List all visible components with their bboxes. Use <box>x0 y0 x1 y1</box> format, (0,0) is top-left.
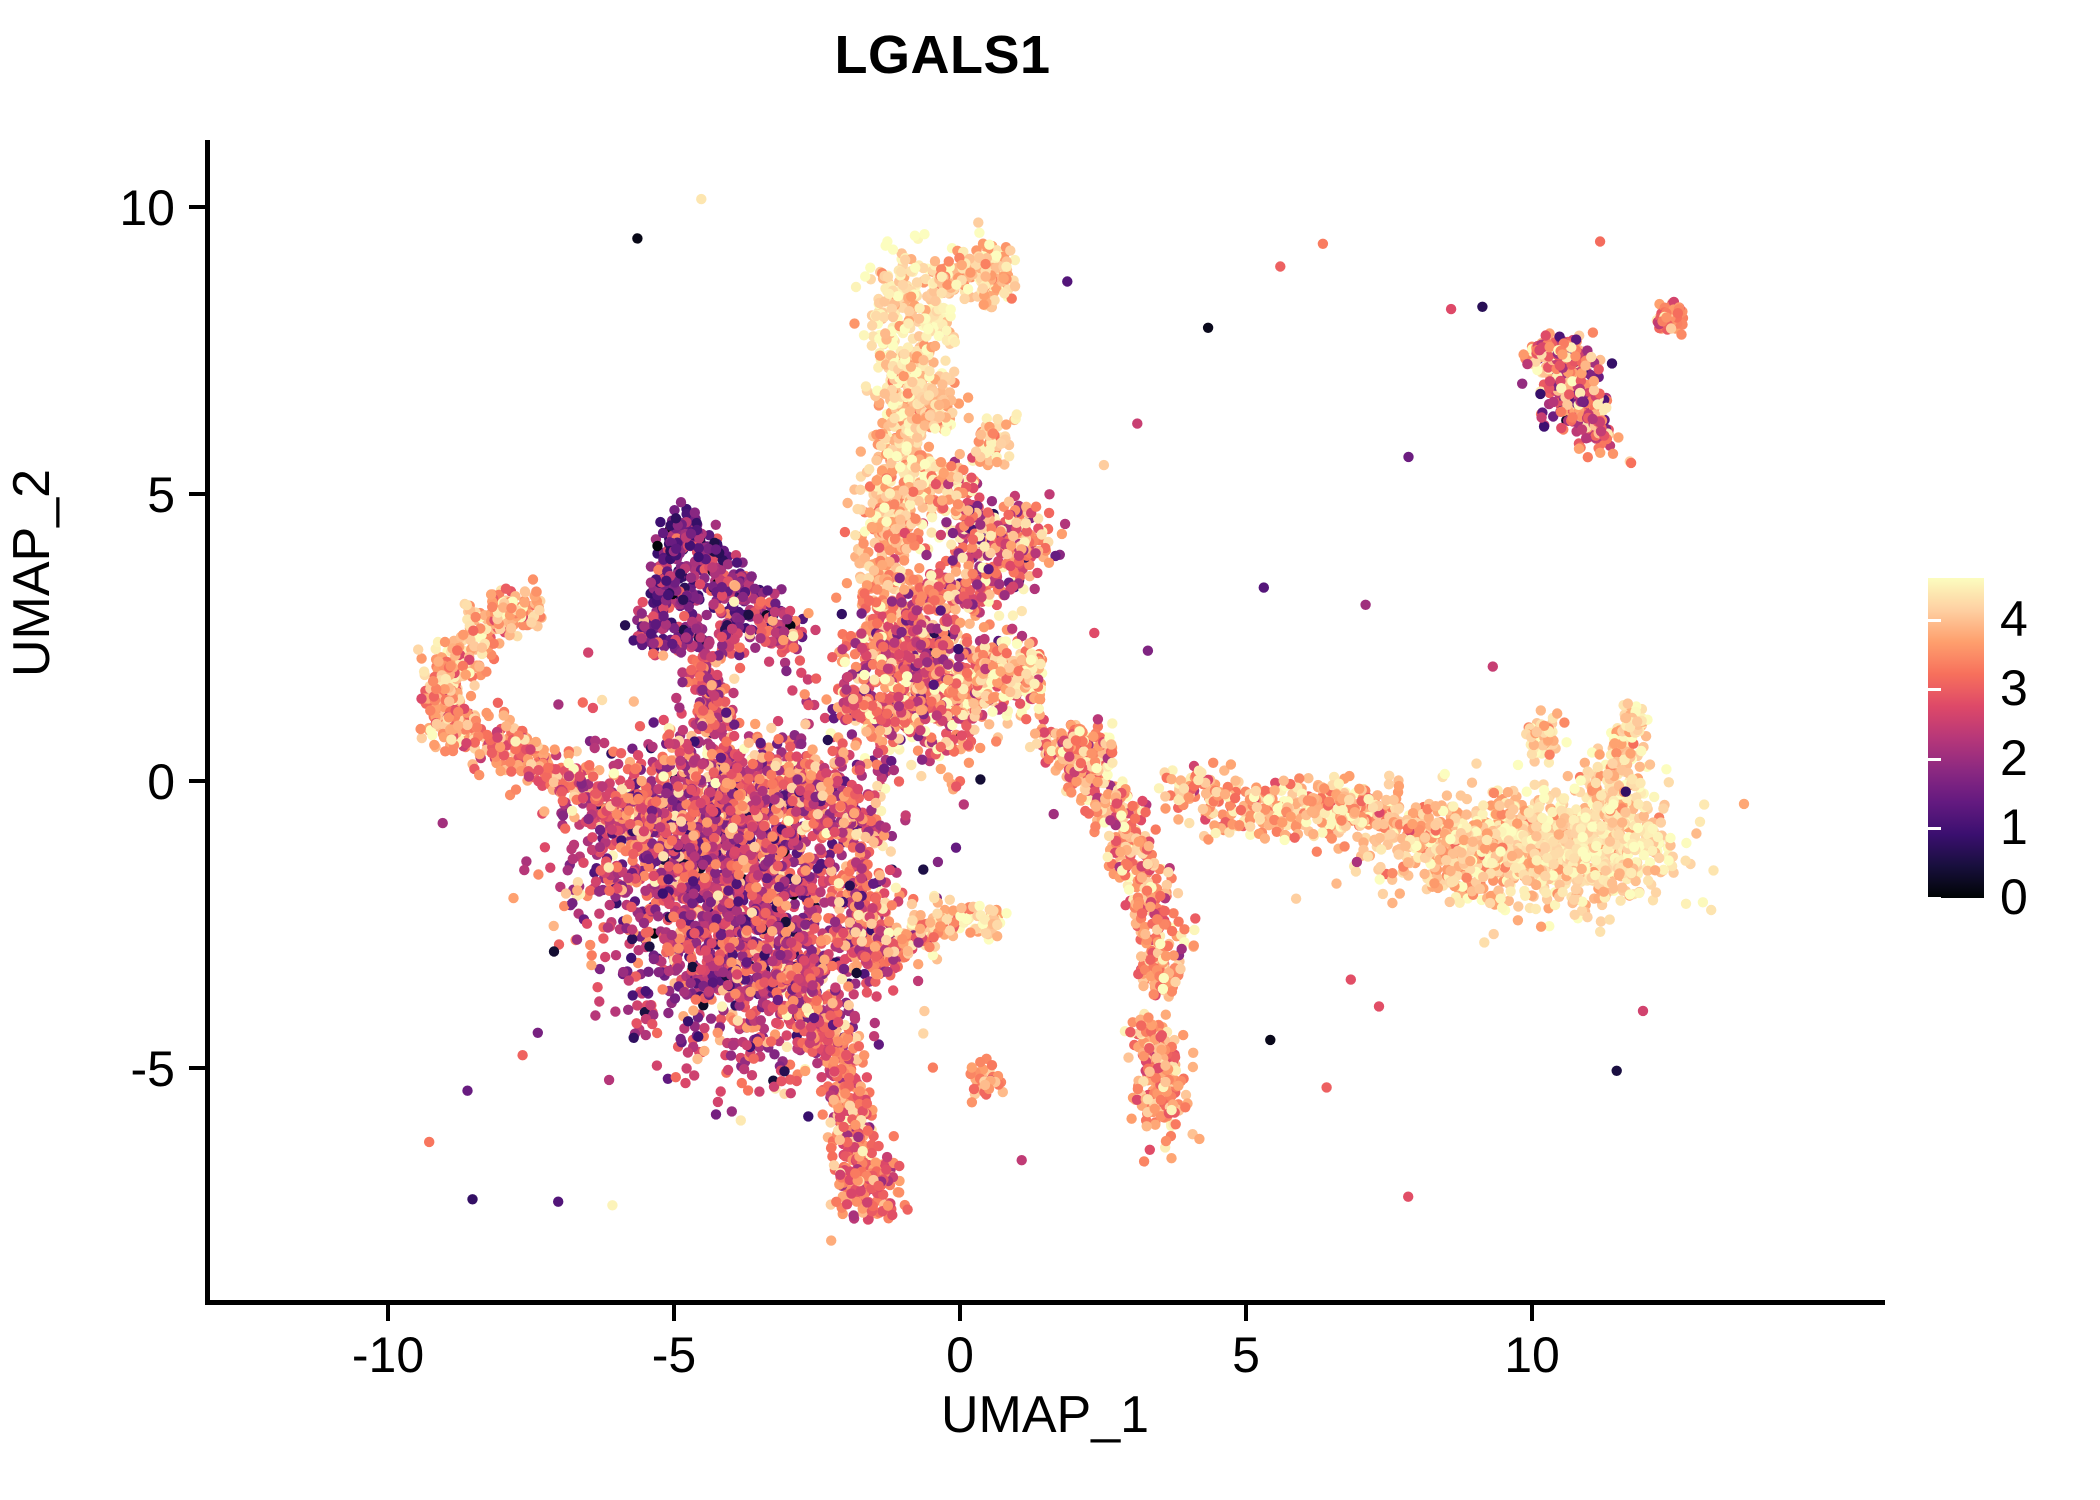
y-tick-label: -5 <box>0 1040 175 1098</box>
colorbar-tick-mark <box>1928 827 1941 830</box>
colorbar-tick-mark <box>1928 897 1941 900</box>
x-tick-mark <box>958 1305 962 1321</box>
colorbar-tick-mark <box>1915 897 1928 900</box>
page-title: LGALS1 <box>0 24 1885 86</box>
y-tick-mark <box>189 779 205 783</box>
colorbar-tick-label: 3 <box>2000 663 2028 713</box>
colorbar-tick-mark <box>1928 619 1941 622</box>
colorbar-tick-label: 1 <box>2000 802 2028 852</box>
x-tick-mark <box>1530 1305 1534 1321</box>
colorbar-tick-mark <box>1915 688 1928 691</box>
colorbar-gradient <box>1928 578 1984 898</box>
umap-figure: LGALS1 UMAP_2 UMAP_1 -10-50510 -50510 43… <box>0 0 2100 1500</box>
colorbar-tick-mark <box>1928 688 1941 691</box>
scatter-points <box>210 140 1890 1305</box>
y-tick-mark <box>189 1066 205 1070</box>
colorbar-tick-label: 0 <box>2000 872 2028 922</box>
x-tick-mark <box>386 1305 390 1321</box>
x-axis-label: UMAP_1 <box>205 1385 1885 1445</box>
y-tick-label: 0 <box>0 753 175 811</box>
colorbar-tick-mark <box>1928 758 1941 761</box>
x-tick-label: 5 <box>1166 1326 1326 1384</box>
plot-panel <box>205 140 1885 1305</box>
y-tick-mark <box>189 205 205 209</box>
colorbar-tick-mark <box>1915 758 1928 761</box>
x-tick-label: -5 <box>594 1326 754 1384</box>
y-axis-label: UMAP_2 <box>2 363 62 783</box>
x-tick-mark <box>672 1305 676 1321</box>
x-tick-label: 10 <box>1452 1326 1612 1384</box>
y-tick-label: 5 <box>0 466 175 524</box>
y-tick-mark <box>189 492 205 496</box>
x-tick-label: 0 <box>880 1326 1040 1384</box>
x-tick-label: -10 <box>308 1326 468 1384</box>
x-tick-mark <box>1244 1305 1248 1321</box>
colorbar-tick-label: 2 <box>2000 733 2028 783</box>
y-tick-label: 10 <box>0 179 175 237</box>
colorbar-tick-mark <box>1915 619 1928 622</box>
colorbar-tick-label: 4 <box>2000 594 2028 644</box>
colorbar-tick-mark <box>1915 827 1928 830</box>
